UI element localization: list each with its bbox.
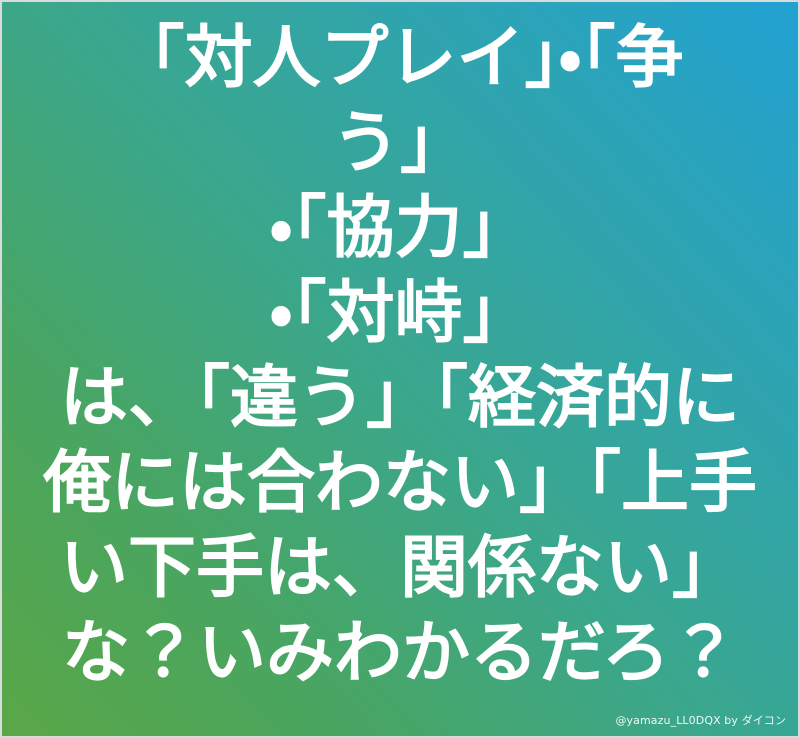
watermark-credit: @yamazu_LL0DQX by ダイコン [615,714,786,728]
quote-line-8: な？いみわかるだろ？ [2,611,798,696]
quote-line-7: い下手は、関係ない」 [2,526,798,611]
quote-line-2: う」 [2,101,798,186]
quote-line-1: 「対人プレイ」・「争 [2,16,798,101]
quote-line-6: 俺には合わない」「上手 [2,441,798,526]
quote-line-5: は、「違う」「経済的に [2,356,798,441]
quote-text-block: 「対人プレイ」・「争 う」 ・「協力」 ・「対峙」 は、「違う」「経済的に 俺に… [2,2,798,718]
quote-line-4: ・「対峙」 [2,271,798,356]
quote-line-3: ・「協力」 [2,186,798,271]
quote-card: 「対人プレイ」・「争 う」 ・「協力」 ・「対峙」 は、「違う」「経済的に 俺に… [0,0,800,738]
